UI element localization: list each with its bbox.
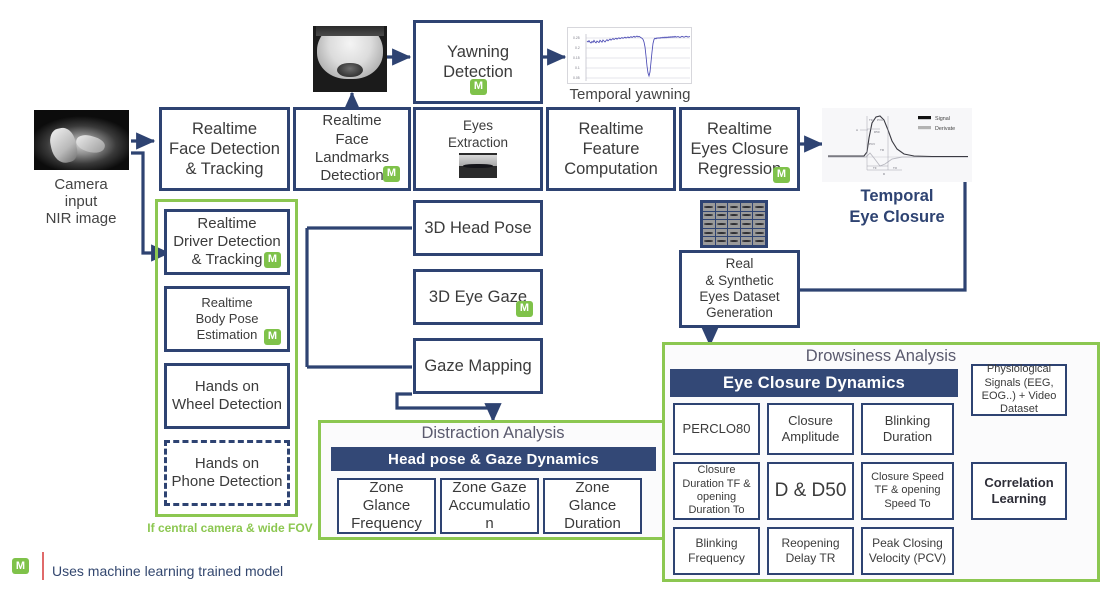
box-feature-computation[interactable]: Realtime Feature Computation bbox=[546, 107, 676, 191]
ml-badge-eye-gaze: M bbox=[516, 301, 533, 317]
box-peak-closing-velocity-label: Peak Closing Velocity (PCV) bbox=[869, 536, 946, 565]
ml-badge-yawning: M bbox=[470, 79, 487, 95]
box-hands-on-wheel[interactable]: Hands on Wheel Detection bbox=[164, 363, 290, 429]
box-driver-detection[interactable]: Realtime Driver Detection & Tracking M bbox=[164, 209, 290, 275]
box-yawning-detection[interactable]: Yawning Detection M bbox=[413, 20, 543, 104]
eyes-dataset-grid bbox=[700, 200, 768, 248]
box-blinking-duration-label: Blinking Duration bbox=[883, 413, 932, 445]
box-zone-gaze-accumulation-label: Zone Gaze Accumulatio n bbox=[449, 479, 531, 534]
legend-text: Uses machine learning trained model bbox=[52, 563, 283, 579]
chart-temporal-eye-closure: A TFc PVC D50 PCV TR TF TO D Signal Deri… bbox=[822, 108, 972, 182]
temporal-yawning-plot: 0.25 0.2 0.15 0.1 0.05 bbox=[568, 28, 693, 85]
box-body-pose[interactable]: Realtime Body Pose Estimation M bbox=[164, 286, 290, 352]
box-eye-gaze[interactable]: 3D Eye Gaze M bbox=[413, 269, 543, 325]
box-closure-amplitude[interactable]: Closure Amplitude bbox=[767, 403, 854, 455]
box-face-detection-label: Realtime Face Detection & Tracking bbox=[169, 119, 280, 179]
chart-temporal-yawning: 0.25 0.2 0.15 0.1 0.05 bbox=[567, 27, 692, 84]
ml-badge-driver-detection: M bbox=[264, 252, 281, 268]
box-closure-amplitude-label: Closure Amplitude bbox=[782, 413, 840, 445]
face-crop-thumbnail bbox=[313, 26, 387, 92]
box-eye-gaze-label: 3D Eye Gaze bbox=[429, 287, 527, 307]
box-d-and-d50-label: D & D50 bbox=[775, 479, 847, 502]
svg-text:PCV: PCV bbox=[869, 142, 875, 146]
svg-text:0.1: 0.1 bbox=[575, 66, 580, 70]
box-eyes-closure-regression[interactable]: Realtime Eyes Closure Regression M bbox=[679, 107, 800, 191]
box-head-pose[interactable]: 3D Head Pose bbox=[413, 200, 543, 256]
box-closure-speed[interactable]: Closure Speed TF & opening Speed To bbox=[861, 462, 954, 520]
box-closure-speed-label: Closure Speed TF & opening Speed To bbox=[871, 471, 944, 511]
box-eyes-extraction-label: Eyes Extraction bbox=[448, 118, 508, 151]
camera-input-caption: Camera input NIR image bbox=[16, 176, 146, 227]
svg-text:D50: D50 bbox=[874, 130, 880, 134]
box-closure-duration[interactable]: Closure Duration TF & opening Duration T… bbox=[673, 462, 760, 520]
box-zone-glance-duration-label: Zone Glance Duration bbox=[564, 479, 621, 534]
svg-text:PVC: PVC bbox=[877, 118, 884, 122]
caption-temporal-yawning: Temporal yawning bbox=[555, 86, 705, 103]
drowsiness-analysis-header: Eye Closure Dynamics bbox=[670, 369, 958, 397]
svg-text:0.05: 0.05 bbox=[573, 76, 580, 80]
box-zone-gaze-accumulation[interactable]: Zone Gaze Accumulatio n bbox=[440, 478, 539, 534]
box-perclo80[interactable]: PERCLO80 bbox=[673, 403, 760, 455]
box-hands-on-wheel-label: Hands on Wheel Detection bbox=[172, 378, 282, 415]
diagram-canvas: Camera input NIR image Realtime Face Det… bbox=[0, 0, 1106, 591]
box-blinking-duration[interactable]: Blinking Duration bbox=[861, 403, 954, 455]
svg-text:0.25: 0.25 bbox=[573, 36, 580, 40]
box-gaze-mapping-label: Gaze Mapping bbox=[424, 356, 531, 376]
legend-ml-badge: M bbox=[12, 558, 29, 574]
box-correlation-learning[interactable]: Correlation Learning bbox=[971, 462, 1067, 520]
caption-temporal-eye-closure: Temporal Eye Closure bbox=[812, 186, 982, 227]
svg-text:TF: TF bbox=[873, 166, 877, 170]
box-body-pose-label: Realtime Body Pose Estimation bbox=[196, 295, 259, 343]
box-physiological-signals-label: Physiological Signals (EEG, EOG..) + Vid… bbox=[982, 363, 1057, 417]
box-reopening-delay-label: Reopening Delay TR bbox=[781, 536, 839, 565]
box-perclo80-label: PERCLO80 bbox=[683, 421, 751, 437]
box-head-pose-label: 3D Head Pose bbox=[424, 218, 531, 238]
wide-fov-caption: If central camera & wide FOV bbox=[130, 521, 330, 535]
box-yawning-detection-label: Yawning Detection bbox=[443, 42, 513, 82]
camera-nir-thumbnail bbox=[34, 110, 129, 170]
legend-divider bbox=[42, 552, 44, 580]
box-zone-glance-frequency[interactable]: Zone Glance Frequency bbox=[337, 478, 436, 534]
box-gaze-mapping[interactable]: Gaze Mapping bbox=[413, 338, 543, 394]
box-reopening-delay[interactable]: Reopening Delay TR bbox=[767, 527, 854, 575]
eyes-crop-thumbnail bbox=[459, 153, 497, 178]
svg-text:0.15: 0.15 bbox=[573, 56, 580, 60]
svg-text:Signal: Signal bbox=[935, 116, 950, 122]
ml-badge-body-pose: M bbox=[264, 329, 281, 345]
box-closure-duration-label: Closure Duration TF & opening Duration T… bbox=[682, 464, 750, 518]
box-blinking-frequency[interactable]: Blinking Frequency bbox=[673, 527, 760, 575]
ml-badge-face-landmarks: M bbox=[383, 166, 400, 182]
distraction-analysis-header: Head pose & Gaze Dynamics bbox=[331, 447, 656, 471]
box-face-detection[interactable]: Realtime Face Detection & Tracking bbox=[159, 107, 290, 191]
box-eyes-extraction[interactable]: Eyes Extraction bbox=[413, 107, 543, 191]
box-hands-on-phone-label: Hands on Phone Detection bbox=[172, 455, 283, 492]
box-d-and-d50[interactable]: D & D50 bbox=[767, 462, 854, 520]
box-zone-glance-frequency-label: Zone Glance Frequency bbox=[351, 479, 422, 534]
svg-text:0.2: 0.2 bbox=[575, 46, 580, 50]
box-face-landmarks[interactable]: Realtime Face Landmarks Detection M bbox=[293, 107, 411, 191]
box-dataset-generation[interactable]: Real & Synthetic Eyes Dataset Generation bbox=[679, 250, 800, 328]
box-physiological-signals[interactable]: Physiological Signals (EEG, EOG..) + Vid… bbox=[971, 364, 1067, 416]
box-hands-on-phone[interactable]: Hands on Phone Detection bbox=[164, 440, 290, 506]
temporal-eye-closure-plot: A TFc PVC D50 PCV TR TF TO D Signal Deri… bbox=[822, 108, 972, 182]
box-correlation-learning-label: Correlation Learning bbox=[984, 475, 1053, 507]
svg-text:TFc: TFc bbox=[869, 118, 875, 122]
box-feature-computation-label: Realtime Feature Computation bbox=[564, 119, 658, 179]
box-dataset-generation-label: Real & Synthetic Eyes Dataset Generation bbox=[699, 256, 779, 322]
distraction-analysis-title: Distraction Analysis bbox=[318, 424, 668, 443]
svg-text:Derivate: Derivate bbox=[935, 126, 955, 132]
ml-badge-eyes-closure: M bbox=[773, 167, 790, 183]
svg-text:TO: TO bbox=[893, 166, 898, 170]
box-blinking-frequency-label: Blinking Frequency bbox=[688, 536, 745, 565]
box-peak-closing-velocity[interactable]: Peak Closing Velocity (PCV) bbox=[861, 527, 954, 575]
box-zone-glance-duration[interactable]: Zone Glance Duration bbox=[543, 478, 642, 534]
svg-text:A: A bbox=[856, 128, 858, 132]
